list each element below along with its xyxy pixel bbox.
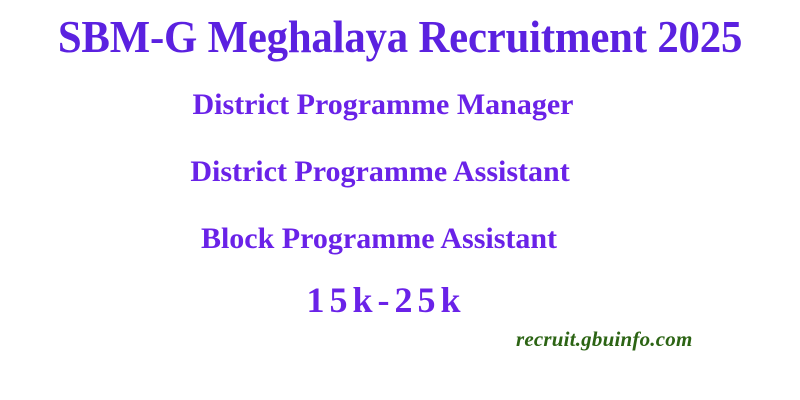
website-url: recruit.gbuinfo.com <box>516 329 692 350</box>
recruitment-poster: SBM-G Meghalaya Recruitment 2025 Distric… <box>0 0 800 400</box>
job-role-district-programme-manager: District Programme Manager <box>0 90 800 120</box>
job-role-district-programme-assistant: District Programme Assistant <box>0 157 800 187</box>
poster-title: SBM-G Meghalaya Recruitment 2025 <box>28 14 772 60</box>
salary-range: 15k-25k <box>0 282 800 318</box>
job-role-block-programme-assistant: Block Programme Assistant <box>0 224 800 254</box>
